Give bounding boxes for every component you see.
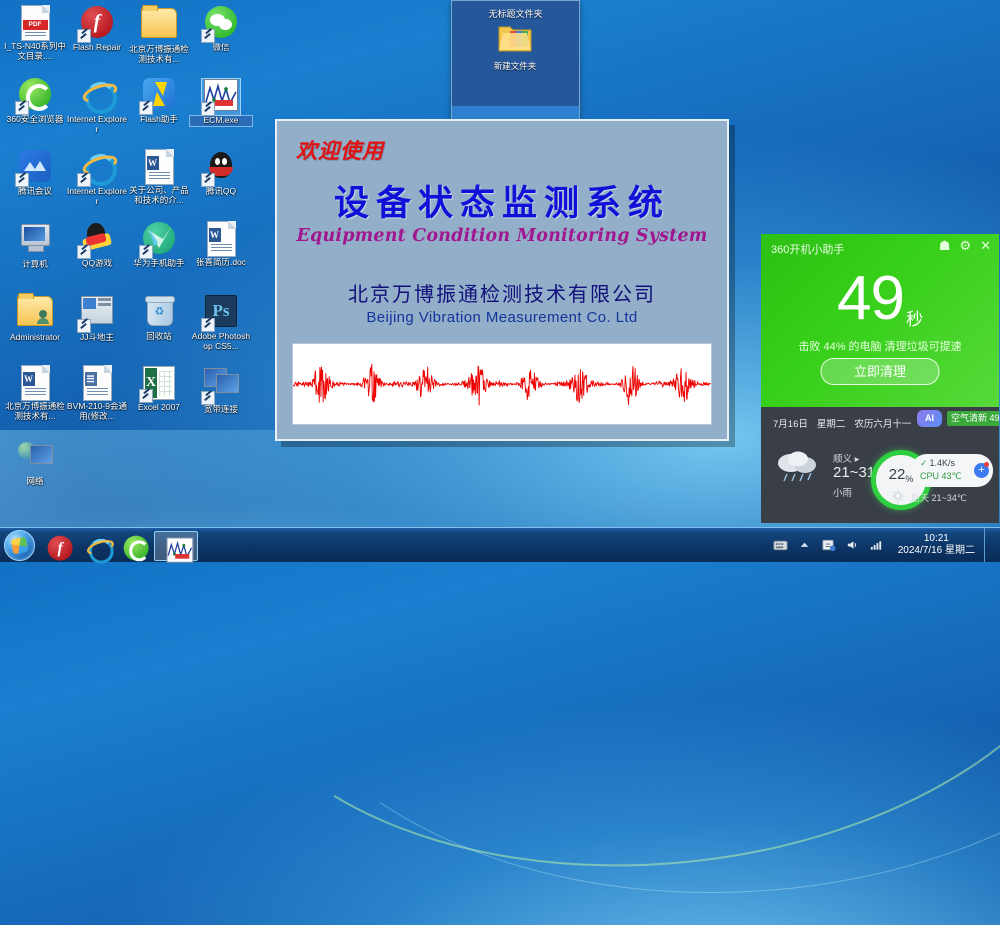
keyboard-icon[interactable]: [773, 538, 788, 552]
day-after-forecast: 后天 21~34℃: [911, 491, 967, 504]
desktop-icon-recycle-bin[interactable]: ♻回收站: [128, 292, 190, 342]
icon-image: [140, 8, 178, 44]
windows-logo-icon: [11, 537, 29, 555]
volume-icon[interactable]: [845, 538, 860, 552]
shortcut-arrow-icon: [201, 173, 215, 187]
shortcut-arrow-icon: [201, 391, 215, 405]
sun-icon: [891, 489, 905, 503]
folder-window-item-label: 新建文件夹: [477, 60, 553, 72]
icon-image: [78, 150, 116, 186]
date-line: 7月16日星期二农历六月十一: [773, 416, 920, 430]
desktop-icon-user-folder[interactable]: Administrator: [4, 292, 66, 343]
icon-image: W: [202, 221, 240, 257]
cpu-temp-row: CPU 43℃: [920, 471, 962, 482]
rain-cloud-icon: [773, 449, 825, 483]
clock-time: 10:21: [898, 533, 975, 545]
word-document-icon: W: [145, 149, 174, 185]
start-button[interactable]: [4, 530, 35, 561]
desktop-icon-network[interactable]: 网络: [4, 436, 66, 487]
icon-image: [16, 296, 54, 332]
desktop-icon-label: 关于公司、产品和技术的介...: [128, 186, 190, 205]
desktop-icon-label: Internet Explorer: [66, 187, 128, 206]
desktop-icon-label: 北京万博振通检测技术有...: [4, 402, 66, 421]
icon-image: ♻: [140, 295, 178, 331]
check-icon: ✓: [920, 458, 928, 468]
desktop-icon-text-document[interactable]: ☰BVM-210-9会通用(修改...: [66, 364, 128, 421]
icon-image: [140, 222, 178, 258]
widget-360-title: 360开机小助手: [771, 241, 844, 257]
desktop-icon-label: 宽带连接: [190, 405, 252, 415]
icon-image: [202, 368, 240, 404]
icon-image: f: [78, 6, 116, 42]
user-folder-icon: [17, 296, 53, 326]
desktop-icon-label: 腾讯会议: [4, 187, 66, 197]
pdf-icon: PDF: [21, 5, 50, 41]
icon-image: [202, 79, 240, 115]
360-browser-icon: [124, 536, 149, 561]
text-document-icon: ☰: [83, 365, 112, 401]
desktop-icon-wechat[interactable]: 微信: [190, 4, 252, 53]
taskbar-button-internet-explorer[interactable]: [78, 531, 112, 559]
company-name-en: Beijing Vibration Measurement Co. Ltd: [277, 309, 727, 326]
shortcut-arrow-icon: [77, 29, 91, 43]
desktop-icon-pdf-document[interactable]: PDFI_TS-N40系列中文目录....: [4, 4, 66, 61]
widget-360-boot-assistant[interactable]: 360开机小助手 ☗ ⚙ ✕ 49秒 击败 44% 的电脑 清理垃圾可提速 立即…: [761, 234, 999, 407]
desktop-icon-grid: PDFI_TS-N40系列中文目录....fFlash Repair北京万博振通…: [0, 0, 260, 520]
shortcut-arrow-icon: [139, 245, 153, 259]
shortcut-arrow-icon: [77, 245, 91, 259]
desktop-icon-photoshop[interactable]: PsAdobe Photoshop CS5...: [190, 292, 252, 351]
desktop-icon-label: 腾讯QQ: [190, 187, 252, 197]
action-center-icon[interactable]: [821, 538, 836, 552]
folder-window-body: 无标题文件夹 新建文件夹: [452, 1, 579, 120]
icon-image: [140, 78, 178, 114]
network-icon: [18, 440, 52, 468]
network-icon[interactable]: [869, 538, 884, 552]
desktop-icon-label: BVM-210-9会通用(修改...: [66, 402, 128, 421]
folder-icon: [141, 8, 177, 38]
desktop-icon-label: 张喜简历.doc: [190, 258, 252, 268]
show-desktop-button[interactable]: [984, 528, 992, 562]
air-quality-badge: 空气清新 49: [947, 411, 999, 426]
shortcut-arrow-icon: [201, 318, 215, 332]
icon-image: [78, 296, 116, 332]
recycle-bin-icon: ♻: [146, 295, 172, 325]
system-title-cn: 设备状态监测系统: [277, 175, 727, 226]
desktop-icon-label: Administrator: [4, 333, 66, 343]
icon-image: ☰: [78, 365, 116, 401]
splash-window[interactable]: 欢迎使用 设备状态监测系统 Equipment Condition Monito…: [275, 119, 729, 441]
icon-image: PDF: [16, 5, 54, 41]
shirt-icon[interactable]: ☗: [939, 239, 951, 253]
desktop-icon-label: Adobe Photoshop CS5...: [190, 332, 252, 351]
splash-content: 欢迎使用 设备状态监测系统 Equipment Condition Monito…: [277, 121, 727, 439]
computer-icon: [18, 223, 52, 253]
clock-date: 2024/7/16 星期二: [898, 545, 975, 557]
desktop-icon-browser-360[interactable]: 360安全浏览器: [4, 76, 66, 125]
icon-image: [78, 78, 116, 114]
shortcut-arrow-icon: [201, 102, 215, 116]
close-icon[interactable]: ✕: [980, 239, 991, 253]
icon-image: [202, 6, 240, 42]
desktop-icon-label: 微信: [190, 43, 252, 53]
show-hidden-icon[interactable]: [797, 538, 812, 552]
desktop-icon-label: Flash助手: [128, 115, 190, 125]
boot-time-subtitle: 击败 44% 的电脑 清理垃圾可提速: [761, 338, 999, 354]
folder-window-title: 无标题文件夹: [452, 7, 579, 20]
desktop-icon-huawei-assistant[interactable]: 华为手机助手: [128, 220, 190, 269]
network-speed-row: ✓1.4K/s: [920, 458, 955, 469]
ai-badge[interactable]: AI: [917, 410, 942, 427]
desktop-icon-label: Internet Explorer: [66, 115, 128, 134]
desktop-icon-label: I_TS-N40系列中文目录....: [4, 42, 66, 61]
system-tray[interactable]: 10:21 2024/7/16 星期二: [773, 528, 1000, 562]
shortcut-arrow-icon: [201, 29, 215, 43]
cpu-temp-value: CPU 43℃: [920, 471, 962, 481]
desktop-icon-label: ECM.exe: [190, 116, 252, 126]
gear-icon[interactable]: ⚙: [959, 239, 971, 253]
desktop-icon-flash-player[interactable]: fFlash Repair: [66, 4, 128, 53]
taskbar-clock[interactable]: 10:21 2024/7/16 星期二: [893, 533, 975, 557]
folder-icon: [498, 23, 532, 53]
desktop-icon-ecm-app[interactable]: ECM.exe: [190, 76, 252, 126]
expand-icon[interactable]: +: [974, 463, 989, 478]
company-name-cn: 北京万博振通检测技术有限公司: [277, 278, 727, 307]
desktop-icon-label: 网络: [4, 477, 66, 487]
taskbar-button-browser-360[interactable]: [116, 531, 150, 559]
system-title-en: Equipment Condition Monitoring System: [277, 226, 727, 246]
desktop-icon-word-document[interactable]: W北京万博振通检测技术有...: [4, 364, 66, 421]
taskbar-button-ecm-app[interactable]: [154, 531, 198, 561]
icon-image: [78, 222, 116, 258]
desktop-icon-qq-penguin[interactable]: 腾讯QQ: [190, 148, 252, 197]
icon-image: [16, 223, 54, 259]
icon-image: [16, 78, 54, 114]
word-document-icon: W: [207, 221, 236, 257]
weather-condition: 小雨: [833, 485, 852, 499]
desktop-icon-label: JJ斗地主: [66, 333, 128, 343]
date-text: 7月16日: [773, 419, 808, 430]
icon-image: X: [140, 366, 178, 402]
shortcut-arrow-icon: [77, 173, 91, 187]
desktop-icon-qq-games[interactable]: QQ游戏: [66, 220, 128, 269]
boot-time-display: 49秒: [761, 268, 999, 330]
desktop-icon-computer[interactable]: 计算机: [4, 220, 66, 270]
desktop-icon-label: 北京万博振通检测技术有...: [128, 45, 190, 64]
desktop-icon-word-document[interactable]: W关于公司、产品和技术的介...: [128, 148, 190, 205]
lunar-text: 农历六月十一: [854, 419, 911, 430]
desktop-icon-jj-game[interactable]: JJ斗地主: [66, 292, 128, 343]
desktop-icon-word-document[interactable]: W张喜简历.doc: [190, 220, 252, 268]
icon-image: W: [16, 365, 54, 401]
desktop-icon-broadband-connection[interactable]: 宽带连接: [190, 364, 252, 415]
performance-pill[interactable]: ✓1.4K/s CPU 43℃ +: [911, 454, 993, 487]
taskbar-button-flash-repair[interactable]: f: [40, 531, 74, 559]
icon-image: W: [140, 149, 178, 185]
word-document-icon: W: [21, 365, 50, 401]
shortcut-arrow-icon: [139, 101, 153, 115]
ecm-app-icon: [167, 538, 194, 563]
folder-window[interactable]: 无标题文件夹 新建文件夹: [451, 0, 580, 121]
boot-time-unit: 秒: [906, 310, 923, 329]
weather-performance-bar[interactable]: 7月16日星期二农历六月十一 AI 空气清新 49 顺义 ▸ 21~31℃ 小雨…: [761, 407, 999, 523]
flash-player-icon: f: [48, 536, 73, 561]
weekday-text: 星期二: [817, 419, 846, 430]
widget-360-toolbar: ☗ ⚙ ✕: [939, 239, 991, 253]
desktop-icon-folder[interactable]: 北京万博振通检测技术有...: [128, 4, 190, 64]
desktop-icon-excel[interactable]: XExcel 2007: [128, 364, 190, 413]
desktop-icon-label: Excel 2007: [128, 403, 190, 413]
boot-time-value: 49: [837, 264, 904, 333]
icon-image: [16, 440, 54, 476]
desktop-icon-internet-explorer[interactable]: Internet Explorer: [66, 148, 128, 206]
desktop-icon-label: 回收站: [128, 332, 190, 342]
desktop-icon-tencent-meeting[interactable]: 腾讯会议: [4, 148, 66, 197]
shortcut-arrow-icon: [139, 389, 153, 403]
welcome-text: 欢迎使用: [296, 135, 384, 165]
network-speed-value: 1.4K/s: [930, 458, 956, 468]
shortcut-arrow-icon: [77, 319, 91, 333]
clean-now-button[interactable]: 立即清理: [821, 358, 940, 385]
desktop-icon-label: 华为手机助手: [128, 259, 190, 269]
desktop-icon-label: Flash Repair: [66, 43, 128, 53]
vibration-waveform-panel: [292, 343, 712, 425]
folder-window-strip: [452, 106, 579, 120]
desktop-icon-internet-explorer[interactable]: Internet Explorer: [66, 76, 128, 134]
folder-window-item[interactable]: 新建文件夹: [477, 23, 553, 72]
shortcut-arrow-icon: [15, 101, 29, 115]
desktop-icon-label: QQ游戏: [66, 259, 128, 269]
icon-image: [16, 150, 54, 186]
icon-image: [202, 150, 240, 186]
desktop-icon-label: 计算机: [4, 260, 66, 270]
waveform-svg: [293, 344, 711, 424]
taskbar[interactable]: f 10:21 2024/7/16 星期二: [0, 527, 1000, 562]
internet-explorer-icon: [86, 536, 111, 561]
desktop-icon-label: 360安全浏览器: [4, 115, 66, 125]
shortcut-arrow-icon: [15, 173, 29, 187]
desktop-icon-flash-assistant[interactable]: Flash助手: [128, 76, 190, 125]
internet-explorer-icon: [81, 78, 113, 110]
icon-image: Ps: [202, 295, 240, 331]
